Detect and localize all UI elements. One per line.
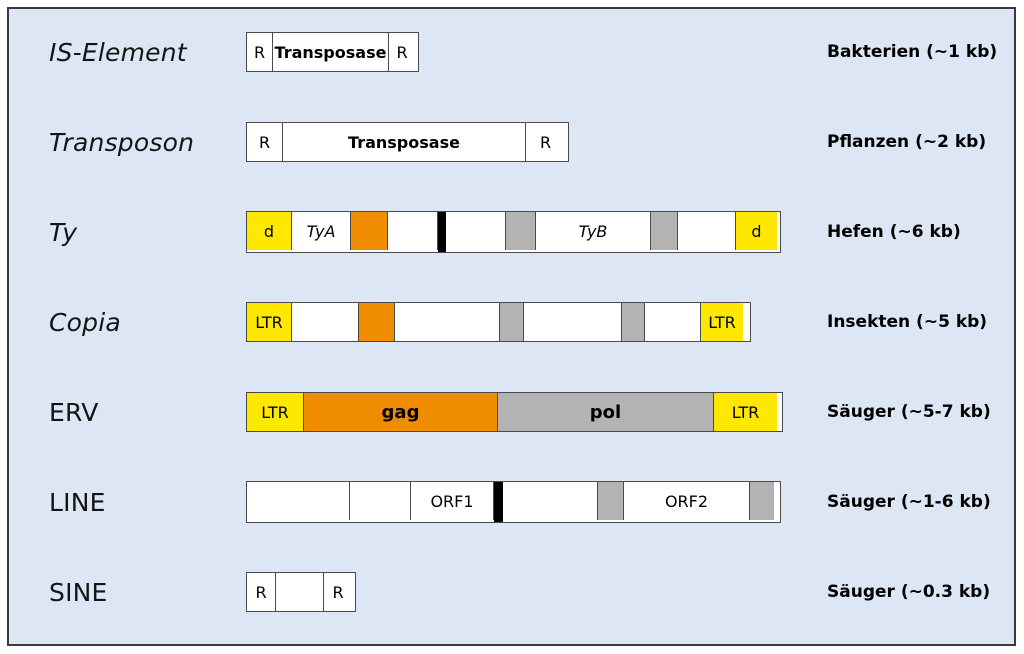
structure-bar-is-element: RTransposaseR — [246, 32, 419, 72]
row-note-sine: Säuger (~0.3 kb) — [827, 547, 990, 637]
segment-ty-gray-block-8 — [651, 212, 678, 250]
element-row-line: LINEORF1ORF2Säuger (~1-6 kb) — [9, 457, 1014, 547]
segment-sine-white-block-1 — [276, 573, 324, 611]
segment-ty-gray-block-6 — [506, 212, 536, 250]
element-row-copia: CopiaLTRLTRInsekten (~5 kb) — [9, 277, 1014, 367]
segment-line-white-block-4 — [503, 482, 598, 520]
row-label-sine: SINE — [49, 547, 108, 637]
segment-sine-r-0: R — [247, 573, 276, 611]
element-row-is-element: IS-ElementRTransposaseRBakterien (~1 kb) — [9, 7, 1014, 97]
segment-line-white-block-0 — [247, 482, 350, 520]
segment-copia-ltr-8: LTR — [701, 303, 743, 341]
diagram-panel: IS-ElementRTransposaseRBakterien (~1 kb)… — [7, 7, 1016, 646]
segment-ty-d-10: d — [736, 212, 777, 250]
segment-sine-r-2: R — [324, 573, 352, 611]
row-label-erv: ERV — [49, 367, 99, 457]
row-note-ty: Hefen (~6 kb) — [827, 187, 961, 277]
segment-transposon-r-2: R — [526, 123, 565, 161]
segment-ty-tyb-7: TyB — [536, 212, 651, 250]
segment-copia-white-block-1 — [292, 303, 359, 341]
structure-bar-copia: LTRLTR — [246, 302, 751, 342]
segment-ty-black-block-4 — [438, 212, 446, 252]
structure-bar-line: ORF1ORF2 — [246, 481, 781, 523]
transposable-elements-diagram: IS-ElementRTransposaseRBakterien (~1 kb)… — [0, 0, 1024, 654]
segment-copia-white-block-7 — [645, 303, 701, 341]
segment-copia-gray-block-6 — [622, 303, 645, 341]
segment-is-element-r-2: R — [389, 33, 415, 71]
row-note-line: Säuger (~1-6 kb) — [827, 457, 991, 547]
segment-copia-white-block-5 — [524, 303, 622, 341]
row-label-transposon: Transposon — [49, 97, 194, 187]
row-note-transposon: Pflanzen (~2 kb) — [827, 97, 986, 187]
segment-ty-tya-1: TyA — [292, 212, 351, 250]
segment-copia-white-block-3 — [395, 303, 500, 341]
segment-line-gray-block-5 — [598, 482, 624, 520]
segment-transposon-transposase-1: Transposase — [283, 123, 526, 161]
element-row-erv: ERVLTRgagpolLTRSäuger (~5-7 kb) — [9, 367, 1014, 457]
segment-is-element-r-0: R — [247, 33, 273, 71]
segment-is-element-transposase-1: Transposase — [273, 33, 389, 71]
segment-copia-gray-block-4 — [500, 303, 524, 341]
segment-copia-ltr-0: LTR — [247, 303, 292, 341]
segment-line-gray-block-7 — [750, 482, 774, 520]
element-row-transposon: TransposonRTransposaseRPflanzen (~2 kb) — [9, 97, 1014, 187]
segment-erv-ltr-0: LTR — [247, 393, 304, 431]
element-row-ty: TydTyATyBdHefen (~6 kb) — [9, 187, 1014, 277]
segment-line-white-block-1 — [350, 482, 411, 520]
segment-erv-ltr-3: LTR — [714, 393, 777, 431]
structure-bar-ty: dTyATyBd — [246, 211, 781, 253]
row-note-copia: Insekten (~5 kb) — [827, 277, 987, 367]
segment-ty-orange-block-2 — [351, 212, 388, 250]
row-label-line: LINE — [49, 457, 106, 547]
row-label-ty: Ty — [49, 187, 77, 277]
structure-bar-erv: LTRgagpolLTR — [246, 392, 783, 432]
row-note-erv: Säuger (~5-7 kb) — [827, 367, 991, 457]
segment-line-orf1-2: ORF1 — [411, 482, 494, 520]
segment-erv-pol-2: pol — [498, 393, 714, 431]
segment-ty-d-0: d — [247, 212, 292, 250]
segment-transposon-r-0: R — [247, 123, 283, 161]
segment-erv-gag-1: gag — [304, 393, 498, 431]
structure-bar-sine: RR — [246, 572, 356, 612]
structure-bar-transposon: RTransposaseR — [246, 122, 569, 162]
segment-line-orf2-6: ORF2 — [624, 482, 750, 520]
row-label-is-element: IS-Element — [49, 7, 187, 97]
element-row-sine: SINERRSäuger (~0.3 kb) — [9, 547, 1014, 637]
segment-ty-white-block-9 — [678, 212, 736, 250]
segment-ty-white-block-5 — [446, 212, 506, 250]
row-note-is-element: Bakterien (~1 kb) — [827, 7, 997, 97]
segment-ty-white-block-3 — [388, 212, 438, 250]
segment-line-black-block-3 — [494, 482, 503, 522]
row-label-copia: Copia — [49, 277, 121, 367]
segment-copia-orange-block-2 — [359, 303, 395, 341]
